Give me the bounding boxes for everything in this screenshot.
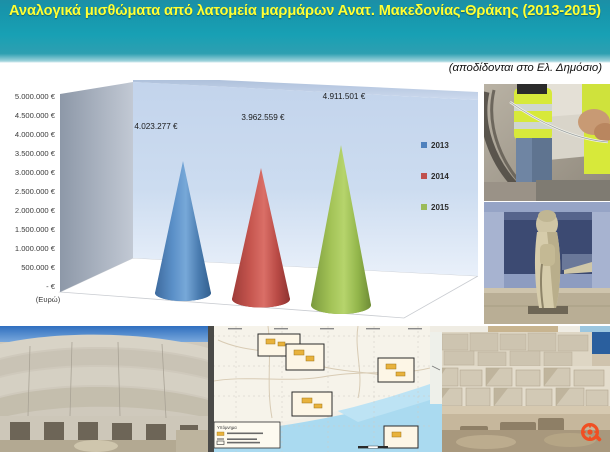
y-tick-label: 1.000.000 € (15, 244, 56, 253)
photo-quarry-location-map: Υπόμνημα (208, 326, 430, 452)
legend-swatch-2013 (421, 142, 427, 148)
y-tick-label: 1.500.000 € (15, 225, 56, 234)
photo-kouros-statue (484, 202, 610, 324)
legend-swatch-2014 (421, 173, 427, 179)
zoom-in-icon[interactable] (581, 423, 603, 445)
data-label-2013: 4.023.277 € (134, 122, 178, 131)
y-tick-label: 4.000.000 € (15, 130, 56, 139)
y-tick-label: 2.000.000 € (15, 206, 56, 215)
legend-label-2013: 2013 (431, 141, 449, 150)
photo-terraced-quarry (0, 326, 208, 452)
y-tick-label: - € (46, 282, 56, 291)
data-label-2015: 4.911.501 € (323, 92, 366, 101)
y-tick-label: 3.500.000 € (15, 149, 56, 158)
y-axis-title: (Ευρώ) (36, 295, 61, 304)
slide-header: Αναλογικά μισθώματα από λατομεία μαρμάρω… (0, 0, 610, 63)
y-tick-label: 2.500.000 € (15, 187, 56, 196)
y-tick-label: 5.000.000 € (15, 92, 56, 101)
chart-3d-cone: 0% (0, 80, 478, 325)
map-legend-title: Υπόμνημα (217, 425, 237, 430)
legend-swatch-2015 (421, 204, 427, 210)
page-title: Αναλογικά μισθώματα από λατομεία μαρμάρω… (0, 1, 610, 22)
chart-svg: 0% (0, 80, 478, 325)
chart-left-wall (60, 82, 133, 292)
legend-label-2014: 2014 (431, 172, 449, 181)
y-tick-label: 4.500.000 € (15, 111, 56, 120)
photo-workers-measuring (484, 84, 610, 201)
y-tick-label: 500.000 € (21, 263, 56, 272)
y-tick-label: 3.000.000 € (15, 168, 56, 177)
legend-label-2015: 2015 (431, 203, 449, 212)
slide-canvas: Αναλογικά μισθώματα από λατομεία μαρμάρω… (0, 0, 610, 452)
subtitle-note: (αποδίδονται στο Ελ. Δημόσιο) (449, 62, 602, 74)
data-label-2014: 3.962.559 € (241, 113, 285, 122)
